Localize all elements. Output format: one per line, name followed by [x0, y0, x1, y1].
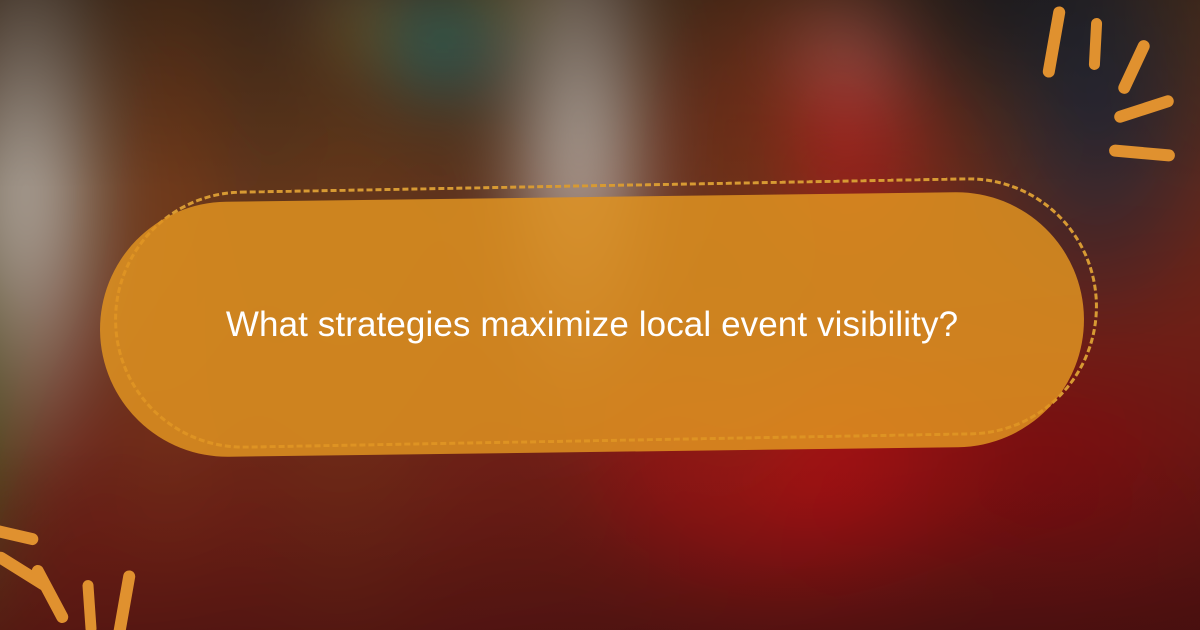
sparkle-ray — [1109, 144, 1176, 162]
sparkle-ray — [112, 570, 136, 630]
sparkle-ray — [30, 563, 71, 625]
sparkle-ray — [1116, 38, 1151, 96]
sparkle-bottom-left-icon — [0, 440, 200, 630]
question-text: What strategies maximize local event vis… — [222, 299, 962, 351]
sparkle-top-right-icon — [1010, 0, 1200, 190]
sparkle-ray — [82, 580, 97, 630]
sparkle-ray — [1042, 6, 1066, 79]
sparkle-ray — [0, 520, 40, 547]
question-card: What strategies maximize local event vis… — [100, 184, 1100, 452]
sparkle-ray — [1113, 94, 1176, 125]
screenshot-canvas: What strategies maximize local event vis… — [0, 0, 1200, 630]
sparkle-ray — [1089, 18, 1103, 71]
card-body: What strategies maximize local event vis… — [98, 191, 1085, 459]
